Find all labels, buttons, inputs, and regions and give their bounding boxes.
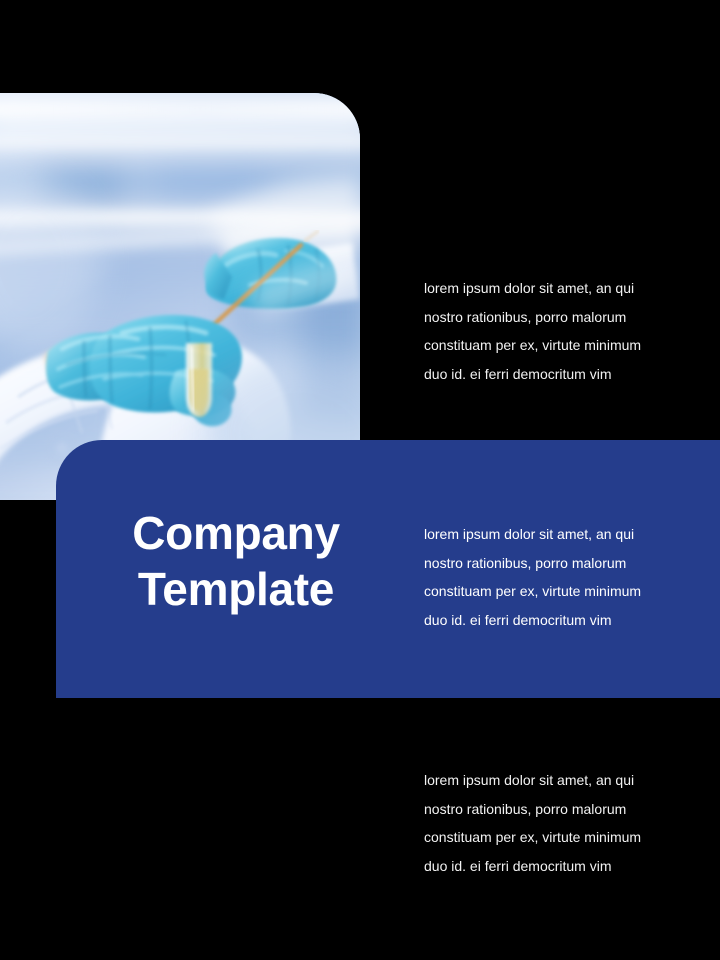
title-line-2: Template — [80, 561, 392, 617]
body-line: constituam per ex, virtute minimum — [424, 331, 676, 360]
body-line: nostro rationibus, porro malorum — [424, 303, 676, 332]
page-title: Company Template — [80, 505, 392, 617]
hero-photo — [0, 93, 360, 500]
lab-photo-illustration — [0, 93, 360, 500]
body-line: nostro rationibus, porro malorum — [424, 795, 676, 824]
body-line: constituam per ex, virtute minimum — [424, 577, 676, 606]
body-line: duo id. ei ferri democritum vim — [424, 360, 676, 389]
title-line-1: Company — [80, 505, 392, 561]
body-line: duo id. ei ferri democritum vim — [424, 606, 676, 635]
body-line: lorem ipsum dolor sit amet, an qui — [424, 520, 676, 549]
slide-canvas: Company Template lorem ipsum dolor sit a… — [0, 0, 720, 960]
body-line: constituam per ex, virtute minimum — [424, 823, 676, 852]
body-line: nostro rationibus, porro malorum — [424, 549, 676, 578]
body-line: lorem ipsum dolor sit amet, an qui — [424, 274, 676, 303]
body-text-top: lorem ipsum dolor sit amet, an qui nostr… — [424, 274, 676, 388]
body-line: lorem ipsum dolor sit amet, an qui — [424, 766, 676, 795]
body-text-middle: lorem ipsum dolor sit amet, an qui nostr… — [424, 520, 676, 634]
body-text-bottom: lorem ipsum dolor sit amet, an qui nostr… — [424, 766, 676, 880]
body-line: duo id. ei ferri democritum vim — [424, 852, 676, 881]
